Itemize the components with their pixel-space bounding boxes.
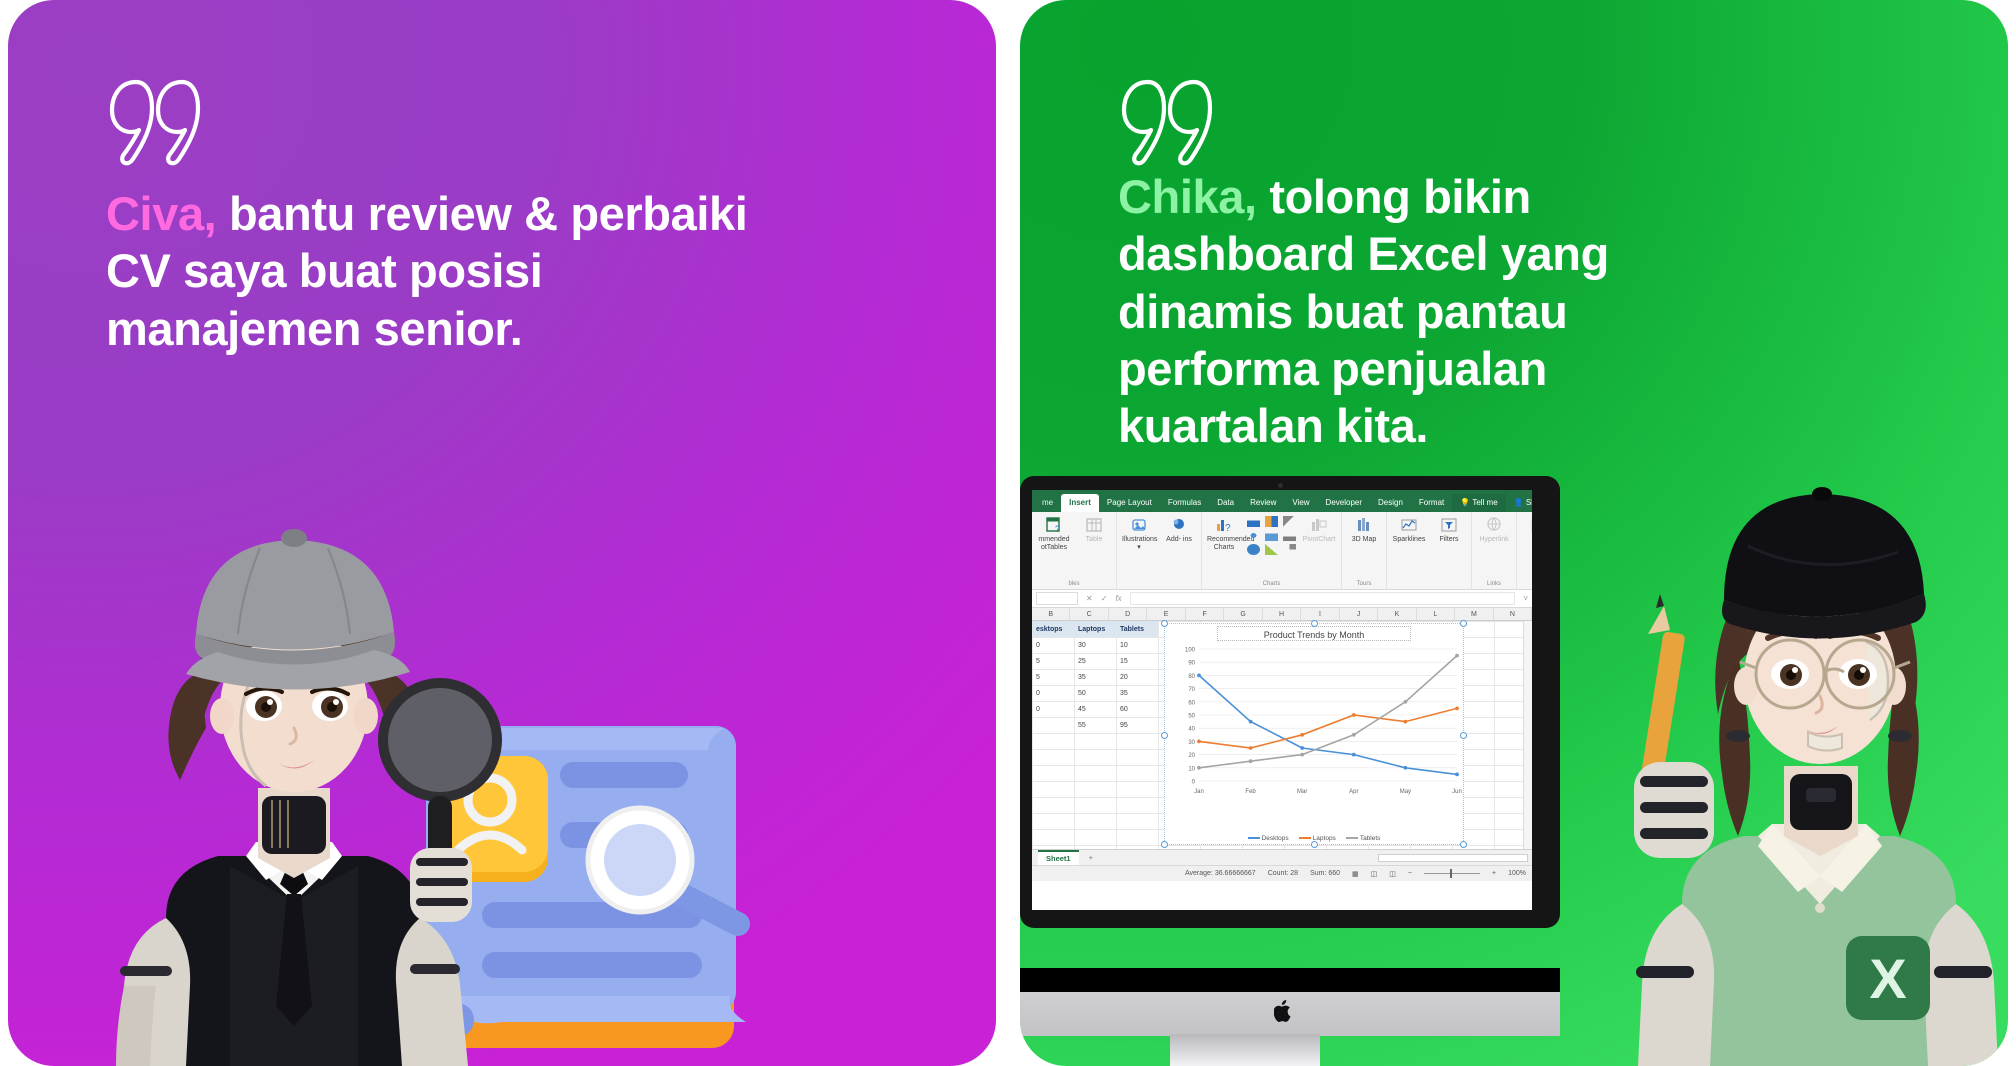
ribbon-group-sparklines-filters: Sparklines Filters	[1387, 512, 1472, 589]
group-label-tables: bles	[1037, 579, 1111, 587]
svg-text:X: X	[1869, 947, 1906, 1010]
chart-resize-handle[interactable]	[1460, 620, 1467, 627]
svg-text:Apr: Apr	[1349, 789, 1358, 795]
double-quote-outline-icon	[106, 72, 206, 168]
page-layout-view-icon[interactable]: ◫	[1371, 870, 1378, 878]
col-header-I[interactable]: I	[1301, 608, 1339, 620]
filters-label: Filters	[1439, 536, 1458, 543]
group-label-sparklines	[1392, 579, 1466, 587]
column-header-row[interactable]: B C D E F G H I J K L M N	[1032, 608, 1532, 621]
sparklines-label: Sparklines	[1393, 536, 1426, 543]
chika-character-avatar: X	[1608, 406, 2008, 1066]
chart-resize-handle[interactable]	[1311, 620, 1318, 627]
3d-map-icon	[1355, 516, 1373, 534]
pivottable-icon: ?	[1045, 516, 1063, 534]
filters-button[interactable]: Filters	[1432, 516, 1466, 544]
col-header-D[interactable]: D	[1109, 608, 1147, 620]
group-label-illustrations	[1122, 579, 1196, 587]
th-tablets: Tablets	[1116, 626, 1158, 633]
worksheet-grid[interactable]: esktops Laptops Tablets 0 30 10 5 25	[1032, 621, 1532, 849]
map3d-button[interactable]: 3D Map	[1347, 516, 1381, 544]
cell[interactable]: 25	[1074, 658, 1116, 665]
th-laptops: Laptops	[1074, 626, 1116, 633]
promo-card-chika[interactable]: Chika, tolong bikin dashboard Excel yang…	[1020, 0, 2008, 1066]
zoom-level: 100%	[1508, 870, 1526, 877]
horizontal-scrollbar[interactable]	[1378, 854, 1528, 862]
table-label: Table	[1086, 536, 1103, 543]
ribbon-group-charts: ? Recommended Charts	[1202, 512, 1342, 589]
cell[interactable]: 20	[1116, 674, 1158, 681]
table-row[interactable]: 0 30 10	[1032, 637, 1158, 653]
table-button[interactable]: Table	[1077, 516, 1111, 544]
col-header-K[interactable]: K	[1378, 608, 1416, 620]
excel-badge-icon: X	[1846, 936, 1930, 1020]
illustrations-button[interactable]: Illustrations ▾	[1122, 516, 1156, 552]
flat-cap	[186, 529, 410, 690]
zoom-slider[interactable]	[1424, 873, 1480, 874]
tab-design[interactable]: Design	[1370, 494, 1411, 512]
col-header-G[interactable]: G	[1224, 608, 1262, 620]
cell[interactable]: 30	[1074, 642, 1116, 649]
function-icon[interactable]: fx	[1115, 594, 1121, 603]
hyperlink-label: Hyperlink	[1479, 536, 1508, 543]
ribbon-collapse-icon[interactable]: ^	[1522, 579, 1532, 587]
legend-item-laptops[interactable]: Laptops	[1299, 835, 1336, 842]
add-sheet-button[interactable]: +	[1089, 853, 1093, 862]
cancel-icon[interactable]: ✕	[1086, 594, 1093, 603]
zoom-out-button[interactable]: −	[1408, 870, 1412, 877]
tab-view[interactable]: View	[1284, 494, 1317, 512]
svg-text:10: 10	[1188, 766, 1195, 772]
status-sum: Sum: 660	[1310, 870, 1340, 877]
col-header-J[interactable]: J	[1340, 608, 1378, 620]
sparklines-icon	[1400, 516, 1418, 534]
tab-formulas[interactable]: Formulas	[1160, 494, 1209, 512]
waterfall-chart-icon[interactable]	[1283, 530, 1296, 541]
svg-text:May: May	[1400, 789, 1411, 795]
headline-accent: Civa,	[106, 187, 216, 240]
share-label: Share	[1526, 498, 1532, 507]
cell[interactable]: 5	[1032, 674, 1074, 681]
imac-stand	[1170, 1034, 1320, 1066]
excel-status-bar[interactable]: Average: 36.66666667 Count: 28 Sum: 660 …	[1032, 865, 1532, 881]
cell[interactable]: 55	[1074, 722, 1116, 729]
group-label-tours: Tours	[1347, 579, 1381, 587]
chart-type-minibuttons[interactable]	[1247, 516, 1296, 555]
monitor-bezel-bottom	[1020, 968, 1560, 994]
sparklines-button[interactable]: Sparklines	[1392, 516, 1426, 544]
status-count: Count: 28	[1268, 870, 1298, 877]
share-button[interactable]: 👤 Share	[1506, 494, 1532, 512]
illustrations-icon	[1130, 516, 1148, 534]
chart-plot-area: 0102030405060708090100JanFebMarAprMayJun	[1165, 641, 1465, 811]
tab-page-layout[interactable]: Page Layout	[1099, 494, 1160, 512]
cell[interactable]: 35	[1116, 690, 1158, 697]
chart-resize-handle[interactable]	[1161, 841, 1168, 848]
col-header-B[interactable]: B	[1032, 608, 1070, 620]
text-button[interactable]: A Text	[1522, 516, 1532, 544]
map3d-label: 3D Map	[1352, 536, 1377, 543]
svg-text:Jun: Jun	[1452, 789, 1462, 795]
cell[interactable]: 95	[1116, 722, 1158, 729]
embedded-line-chart[interactable]: Product Trends by Month 0102030405060708…	[1164, 623, 1464, 845]
th-desktops: esktops	[1032, 626, 1074, 633]
data-table[interactable]: esktops Laptops Tablets 0 30 10 5 25	[1032, 621, 1158, 733]
table-row[interactable]: 0 45 60	[1032, 701, 1158, 717]
excel-ribbon[interactable]: ? mmended otTables	[1032, 512, 1532, 590]
text-box-icon: A	[1530, 516, 1532, 534]
svg-text:?: ?	[1055, 524, 1060, 534]
black-beret	[1722, 487, 1926, 639]
col-header-H[interactable]: H	[1263, 608, 1301, 620]
col-header-M[interactable]: M	[1455, 608, 1493, 620]
tell-me-box[interactable]: 💡 Tell me	[1452, 494, 1505, 512]
chart-title[interactable]: Product Trends by Month	[1217, 626, 1411, 641]
group-label-charts: Charts	[1207, 579, 1336, 587]
svg-text:Feb: Feb	[1245, 789, 1256, 795]
legend-item-desktops[interactable]: Desktops	[1248, 835, 1289, 842]
histogram-chart-icon[interactable]	[1265, 530, 1278, 541]
lightbulb-icon: 💡	[1460, 498, 1470, 507]
table-icon	[1085, 516, 1103, 534]
excel-formula-bar[interactable]: ✕ ✓ fx ˅	[1032, 590, 1532, 608]
page-title: Civa, bantu review & perbaiki CV saya bu…	[106, 185, 766, 357]
sheet-tab-bar[interactable]: Sheet1 +	[1032, 849, 1532, 865]
svg-text:100: 100	[1185, 648, 1196, 654]
hyperlink-button[interactable]: Hyperlink	[1477, 516, 1511, 544]
table-row[interactable]: 5 35 20	[1032, 669, 1158, 685]
table-header-row: esktops Laptops Tablets	[1032, 621, 1158, 637]
pivotchart-button[interactable]: PivotChart	[1302, 516, 1336, 544]
cell[interactable]: 10	[1116, 642, 1158, 649]
table-row[interactable]: 0 50 35	[1032, 685, 1158, 701]
zoom-in-button[interactable]: +	[1492, 870, 1496, 877]
cell[interactable]: 35	[1074, 674, 1116, 681]
col-header-F[interactable]: F	[1186, 608, 1224, 620]
chart-resize-handle[interactable]	[1460, 732, 1467, 739]
pie-chart-icon[interactable]	[1247, 544, 1260, 555]
robot-hand	[410, 848, 472, 922]
svg-text:30: 30	[1188, 740, 1195, 746]
headline-accent: Chika,	[1118, 170, 1257, 223]
promo-card-civa[interactable]: Civa, bantu review & perbaiki CV saya bu…	[8, 0, 996, 1066]
col-header-E[interactable]: E	[1147, 608, 1185, 620]
imac-desktop: me Insert Page Layout Formulas Data Revi…	[1020, 466, 1580, 1066]
apple-logo-icon	[1274, 1000, 1294, 1022]
sheet-tab-sheet1[interactable]: Sheet1	[1038, 850, 1079, 865]
add-ins-icon	[1170, 516, 1188, 534]
column-chart-icon[interactable]	[1247, 516, 1260, 527]
cell[interactable]: 50	[1074, 690, 1116, 697]
recommended-pivottables-button[interactable]: ? mmended otTables	[1037, 516, 1071, 552]
person-icon: 👤	[1514, 498, 1524, 507]
robot-hand	[1634, 762, 1714, 858]
col-header-L[interactable]: L	[1417, 608, 1455, 620]
webcam-icon	[1278, 483, 1283, 488]
scatter-chart-icon[interactable]	[1247, 530, 1260, 541]
civa-character-avatar	[80, 466, 510, 1066]
expand-formula-bar-icon[interactable]: ˅	[1523, 594, 1528, 603]
svg-text:40: 40	[1188, 727, 1195, 733]
tell-me-label: Tell me	[1472, 498, 1497, 507]
radar-chart-icon[interactable]	[1283, 544, 1296, 555]
col-header-N[interactable]: N	[1494, 608, 1532, 620]
double-quote-outline-icon	[1118, 72, 1218, 168]
pivotchart-icon	[1310, 516, 1328, 534]
add-ins-label: Add- ins	[1166, 536, 1192, 543]
svg-text:70: 70	[1188, 687, 1195, 693]
col-header-C[interactable]: C	[1070, 608, 1108, 620]
line-chart-icon[interactable]	[1283, 516, 1296, 527]
promo-cards-stage: Civa, bantu review & perbaiki CV saya bu…	[0, 0, 2016, 1066]
ribbon-group-tables: ? mmended otTables	[1032, 512, 1117, 589]
chart-resize-handle[interactable]	[1311, 841, 1318, 848]
svg-text:?: ?	[1225, 523, 1231, 534]
tab-format[interactable]: Format	[1411, 494, 1452, 512]
filter-icon	[1440, 516, 1458, 534]
chart-resize-handle[interactable]	[1460, 841, 1467, 848]
cell[interactable]: 15	[1116, 658, 1158, 665]
chart-resize-handle[interactable]	[1161, 620, 1168, 627]
tab-insert[interactable]: Insert	[1061, 494, 1099, 512]
recommended-charts-icon: ?	[1215, 516, 1233, 534]
table-row[interactable]: 5 25 15	[1032, 653, 1158, 669]
recommended-charts-button[interactable]: ? Recommended Charts	[1207, 516, 1241, 552]
svg-text:60: 60	[1188, 700, 1195, 706]
ribbon-group-tours: 3D Map Tours	[1342, 512, 1387, 589]
pivotchart-label: PivotChart	[1303, 536, 1336, 543]
cell[interactable]: 60	[1116, 706, 1158, 713]
tab-review[interactable]: Review	[1242, 494, 1284, 512]
excel-window[interactable]: me Insert Page Layout Formulas Data Revi…	[1032, 490, 1532, 910]
chart-resize-handle[interactable]	[1161, 732, 1168, 739]
cell[interactable]: 0	[1032, 706, 1074, 713]
status-average: Average: 36.66666667	[1185, 870, 1256, 877]
page-break-view-icon[interactable]: ◫	[1389, 870, 1396, 878]
cell[interactable]: 5	[1032, 658, 1074, 665]
svg-text:Jan: Jan	[1194, 789, 1204, 795]
name-box[interactable]	[1036, 592, 1078, 605]
svg-text:0: 0	[1192, 780, 1196, 786]
svg-text:50: 50	[1188, 714, 1195, 720]
ribbon-group-links: Hyperlink Links	[1472, 512, 1517, 589]
cell[interactable]: 0	[1032, 642, 1074, 649]
vertical-scrollbar[interactable]	[1523, 621, 1532, 849]
svg-text:90: 90	[1188, 661, 1195, 667]
bar-chart-icon[interactable]	[1265, 516, 1278, 527]
area-chart-icon[interactable]	[1265, 544, 1278, 555]
confirm-icon[interactable]: ✓	[1101, 594, 1108, 603]
illustrations-label: Illustrations	[1122, 536, 1157, 543]
svg-text:Mar: Mar	[1297, 789, 1307, 795]
tab-developer[interactable]: Developer	[1318, 494, 1370, 512]
normal-view-icon[interactable]: ▦	[1352, 870, 1359, 878]
ribbon-group-illustrations: Illustrations ▾ Add- ins	[1117, 512, 1202, 589]
tab-home[interactable]: me	[1034, 494, 1061, 512]
svg-text:20: 20	[1188, 753, 1195, 759]
pencil	[1634, 594, 1714, 858]
add-ins-button[interactable]: Add- ins	[1162, 516, 1196, 544]
table-row[interactable]: 55 95	[1032, 717, 1158, 733]
legend-item-tablets[interactable]: Tablets	[1346, 835, 1381, 842]
cell[interactable]: 45	[1074, 706, 1116, 713]
hyperlink-icon	[1485, 516, 1503, 534]
formula-input[interactable]	[1130, 592, 1516, 605]
group-label-links: Links	[1477, 579, 1511, 587]
excel-ribbon-tabs[interactable]: me Insert Page Layout Formulas Data Revi…	[1032, 490, 1532, 512]
tab-data[interactable]: Data	[1209, 494, 1242, 512]
ribbon-group-text-symbols: A Text Ω Symbols	[1517, 512, 1532, 589]
svg-text:80: 80	[1188, 674, 1195, 680]
chevron-down-icon[interactable]: ▾	[1137, 544, 1141, 551]
cell[interactable]: 0	[1032, 690, 1074, 697]
recommended-pivottables-label: mmended otTables	[1038, 536, 1069, 551]
